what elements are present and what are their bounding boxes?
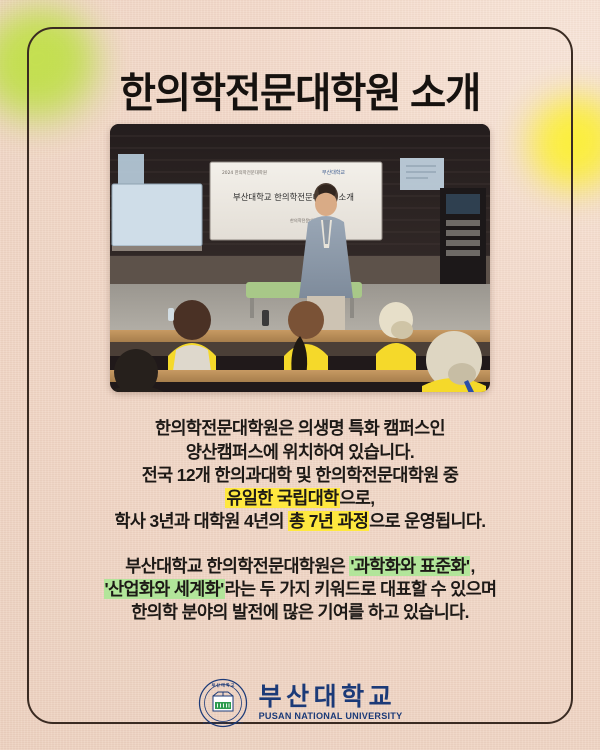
highlighted-text-green: '과학화와 표준화' xyxy=(349,556,470,576)
svg-text:부 산 대 학 교: 부 산 대 학 교 xyxy=(211,683,234,688)
highlighted-text-green: '산업화와 세계화' xyxy=(104,579,225,599)
text-run: 한의학 분야의 발전에 많은 기여를 하고 있습니다. xyxy=(131,602,469,622)
text-line: 한의학전문대학원은 의생명 특화 캠퍼스인 xyxy=(32,417,568,440)
svg-text:2024 한의학전문대학원: 2024 한의학전문대학원 xyxy=(222,169,267,176)
text-run: 양산캠퍼스에 위치하여 있습니다. xyxy=(186,442,414,462)
text-run: 한의학전문대학원은 의생명 특화 캠퍼스인 xyxy=(155,418,445,438)
lecture-photo: 2024 한의학전문대학원 부산대학교 부산대학교 한의학전문대학원 소개 한의… xyxy=(110,124,490,392)
text-line: 부산대학교 한의학전문대학원은 '과학화와 표준화', xyxy=(32,555,568,578)
university-seal-icon: 부 산 대 학 교 PUSAN NATIONAL UNIVERSITY xyxy=(198,678,248,728)
text-run: , xyxy=(470,556,474,576)
highlighted-text-yellow: 총 7년 과정 xyxy=(288,511,369,531)
text-line: 양산캠퍼스에 위치하여 있습니다. xyxy=(32,441,568,464)
logo-english-name: PUSAN NATIONAL UNIVERSITY xyxy=(259,711,403,722)
text-line: '산업화와 세계화'라는 두 가지 키워드로 대표할 수 있으며 xyxy=(32,578,568,601)
text-run: 라는 두 가지 키워드로 대표할 수 있으며 xyxy=(225,579,497,599)
text-line: 학사 3년과 대학원 4년의 총 7년 과정으로 운영됩니다. xyxy=(32,510,568,533)
text-run: 전국 12개 한의과대학 및 한의학전문대학원 중 xyxy=(142,465,459,485)
text-run: 학사 3년과 대학원 4년의 xyxy=(114,511,288,531)
text-run: 으로 운영됩니다. xyxy=(369,511,485,531)
poster-card: 한의학전문대학원 소개 xyxy=(0,0,600,750)
text-run: 으로, xyxy=(340,488,375,508)
logo-wordmark: 부산대학교 PUSAN NATIONAL UNIVERSITY xyxy=(259,684,403,722)
svg-text:PUSAN NATIONAL UNIVERSITY: PUSAN NATIONAL UNIVERSITY xyxy=(202,721,243,725)
page-title: 한의학전문대학원 소개 xyxy=(12,71,588,117)
text-run: 부산대학교 한의학전문대학원은 xyxy=(125,556,349,576)
text-line: 전국 12개 한의과대학 및 한의학전문대학원 중 xyxy=(32,464,568,487)
university-logo-lockup: 부 산 대 학 교 PUSAN NATIONAL UNIVERSITY 부산대학… xyxy=(0,678,600,728)
paragraph-1: 한의학전문대학원은 의생명 특화 캠퍼스인양산캠퍼스에 위치하여 있습니다.전국… xyxy=(32,417,568,533)
logo-korean-name: 부산대학교 xyxy=(259,684,397,710)
paragraph-2: 부산대학교 한의학전문대학원은 '과학화와 표준화','산업화와 세계화'라는 … xyxy=(32,555,568,624)
body-copy: 한의학전문대학원은 의생명 특화 캠퍼스인양산캠퍼스에 위치하여 있습니다.전국… xyxy=(32,400,568,642)
svg-text:부산대학교: 부산대학교 xyxy=(322,169,345,176)
text-line: 한의학 분야의 발전에 많은 기여를 하고 있습니다. xyxy=(32,601,568,624)
text-line: 유일한 국립대학으로, xyxy=(32,487,568,510)
highlighted-text-yellow: 유일한 국립대학 xyxy=(225,488,339,508)
